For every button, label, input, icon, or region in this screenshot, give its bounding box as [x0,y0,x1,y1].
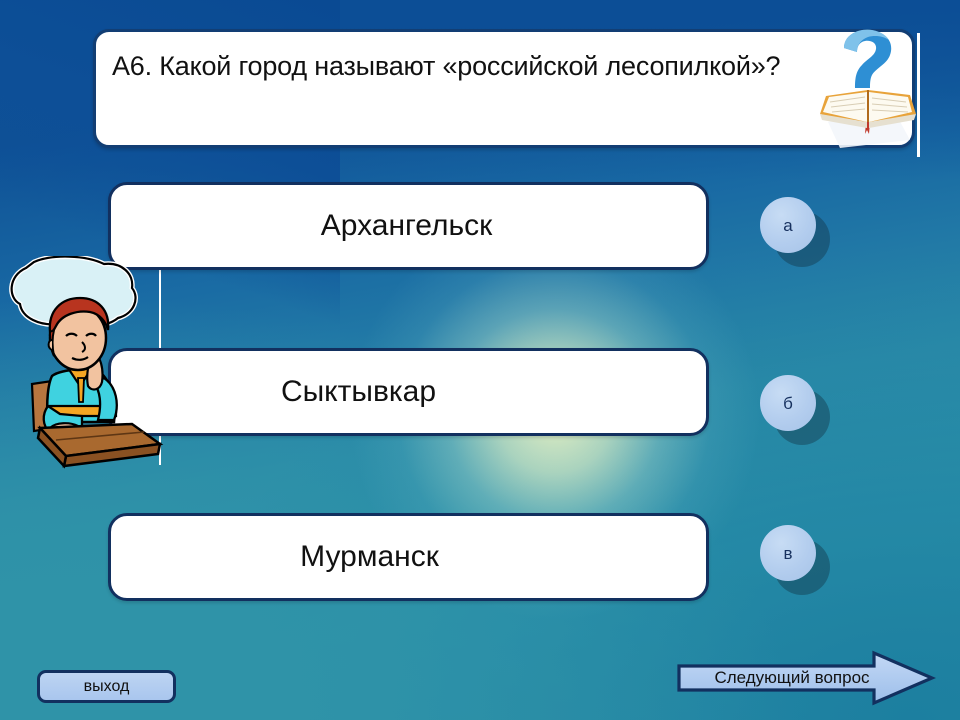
answer-option-b-label: Сыктывкар [111,375,706,409]
question-panel: A6. Какой город называют «российской лес… [93,29,915,148]
answer-option-v[interactable]: Мурманск [108,513,709,601]
exit-button-label: выход [84,678,130,696]
next-question-button[interactable]: Следующий вопрос [676,650,936,706]
answer-option-a-label: Архангельск [111,209,706,243]
option-marker-v-letter: в [783,545,792,562]
answer-option-b[interactable]: Сыктывкар [108,348,709,436]
question-text: A6. Какой город называют «российской лес… [112,42,812,91]
option-marker-b-disc: б [760,375,816,431]
answer-option-v-label: Мурманск [111,540,706,574]
option-marker-b[interactable]: б [760,375,816,431]
option-marker-b-letter: б [783,395,793,412]
option-marker-a[interactable]: а [760,197,816,253]
answer-option-a[interactable]: Архангельск [108,182,709,270]
option-marker-a-disc: а [760,197,816,253]
option-marker-a-letter: а [783,217,792,234]
exit-button[interactable]: выход [37,670,176,703]
thinking-student-icon [4,256,170,472]
next-question-label: Следующий вопрос [694,650,890,706]
option-marker-v[interactable]: в [760,525,816,581]
decorative-vertical-rule-right [917,33,920,157]
option-marker-v-disc: в [760,525,816,581]
